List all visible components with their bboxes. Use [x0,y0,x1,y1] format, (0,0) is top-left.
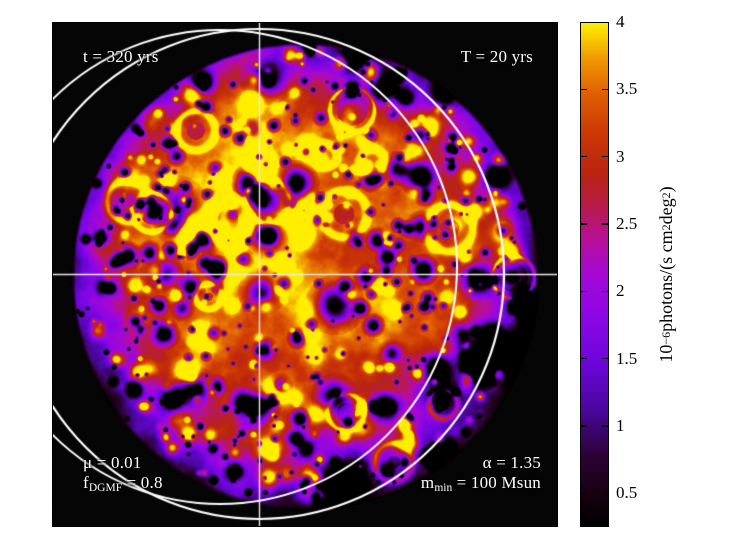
intensity-colorbar [580,22,609,527]
colorbar-tick-label: 2.5 [616,214,637,234]
colorbar-tick-label: 0.5 [616,483,637,503]
colorbar-tick-mark [580,291,587,293]
colorbar-tick-mark [580,358,587,360]
colorbar-tick-label: 3 [616,147,625,167]
colorbar-tick-mark [602,358,609,360]
colorbar-tick-label: 3.5 [616,79,637,99]
colorbar-container: 43.532.521.510.5 [580,22,609,527]
colorbar-tick-mark [580,89,587,91]
figure-root: t = 320 yrs T = 20 yrs μ = 0.01 fDGMF = … [0,0,742,550]
cb-title-exponent: −6 [659,332,674,345]
cb-title-exp3: 2 [659,192,674,198]
colorbar-tick-mark [602,156,609,158]
colorbar-tick-label: 1 [616,416,625,436]
colorbar-tick-mark [580,425,587,427]
colorbar-tick-mark [580,156,587,158]
cb-title-exp2: 2 [659,224,674,230]
colorbar-tick-label: 4 [616,12,625,32]
colorbar-tick-mark [602,493,609,495]
colorbar-tick-mark [602,223,609,225]
colorbar-tick-mark [602,425,609,427]
intensity-map-canvas [53,23,558,527]
cb-title-prefix: 10 [656,345,677,363]
gamma-ray-intensity-map: t = 320 yrs T = 20 yrs μ = 0.01 fDGMF = … [52,22,558,527]
cb-title-body2: deg [656,198,677,224]
colorbar-tick-label: 1.5 [616,349,637,369]
colorbar-tick-label: 2 [616,281,625,301]
colorbar-axis-title: 10−6 photons/(s cm2 deg2) [652,22,681,527]
cb-title-body3: ) [656,186,677,192]
colorbar-tick-mark [580,223,587,225]
cb-title-body: photons/(s cm [656,230,677,332]
colorbar-tick-mark [602,291,609,293]
colorbar-tick-mark [602,89,609,91]
colorbar-tick-mark [580,493,587,495]
